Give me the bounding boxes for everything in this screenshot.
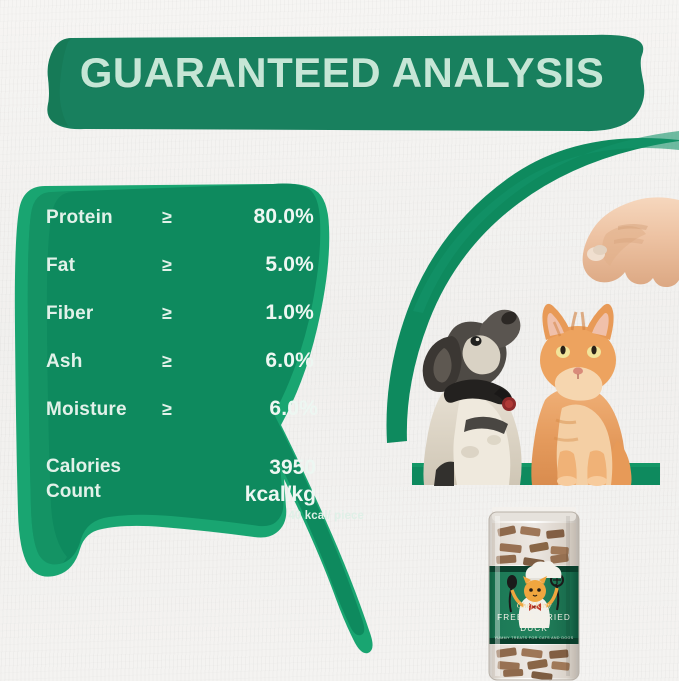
jar-tagline: YUMMY TREATS FOR CATS AND DOGS (494, 636, 573, 640)
calories-label: Calories Count (46, 455, 202, 504)
nutrient-label: Fiber (46, 303, 162, 325)
table-row: Fiber ≥ 1.0% (46, 301, 318, 325)
calories-value-line1: 3950 (202, 455, 316, 482)
nutrient-label: Fat (46, 255, 162, 277)
dog-looking-up-photo (423, 309, 522, 486)
calories-value-line2: kcal/kg (202, 482, 316, 509)
nutrient-label: Ash (46, 351, 162, 373)
infographic-root: Chef Kitty FREEZE-DRIED DUCK YUMMY TREAT… (0, 0, 679, 681)
calories-row: Calories Count 3950 kcal/kg (46, 455, 318, 509)
jar-product-line1: FREEZE-DRIED (497, 613, 571, 622)
calories-label-line2: Count (46, 480, 202, 505)
table-row: Moisture ≥ 6.0% (46, 397, 318, 421)
nutrient-operator: ≥ (162, 255, 202, 276)
nutrient-value: 5.0% (202, 253, 318, 277)
jar-brand-script: Chef Kitty (517, 600, 552, 610)
table-row: Fat ≥ 5.0% (46, 253, 318, 277)
freeze-dried-duck-jar: Chef Kitty FREEZE-DRIED DUCK YUMMY TREAT… (489, 507, 579, 681)
nutrient-operator: ≥ (162, 303, 202, 324)
calories-note: 40 kcal/ piece (196, 510, 364, 522)
nutrient-label: Moisture (46, 399, 162, 421)
nutrient-label: Protein (46, 207, 162, 229)
orange-tabby-cat-looking-up-photo (531, 304, 631, 486)
nutrient-operator: ≥ (162, 207, 202, 228)
table-row: Ash ≥ 6.0% (46, 349, 318, 373)
nutrient-value: 6.0% (202, 349, 318, 373)
nutrient-operator: ≥ (162, 351, 202, 372)
calories-label-line1: Calories (46, 455, 202, 480)
jar-product-line2: DUCK (520, 624, 548, 633)
hand-holding-treat-photo (583, 197, 679, 287)
nutrient-operator: ≥ (162, 399, 202, 420)
page-title-text: GUARANTEED ANALYSIS (80, 52, 604, 94)
nutrient-value: 6.0% (202, 397, 318, 421)
nutrient-value: 80.0% (202, 205, 318, 229)
table-row: Protein ≥ 80.0% (46, 205, 318, 229)
calories-value: 3950 kcal/kg (202, 455, 318, 509)
page-title: GUARANTEED ANALYSIS (48, 33, 636, 113)
guaranteed-analysis-table: Protein ≥ 80.0% Fat ≥ 5.0% Fiber ≥ 1.0% … (46, 205, 318, 509)
nutrient-value: 1.0% (202, 301, 318, 325)
